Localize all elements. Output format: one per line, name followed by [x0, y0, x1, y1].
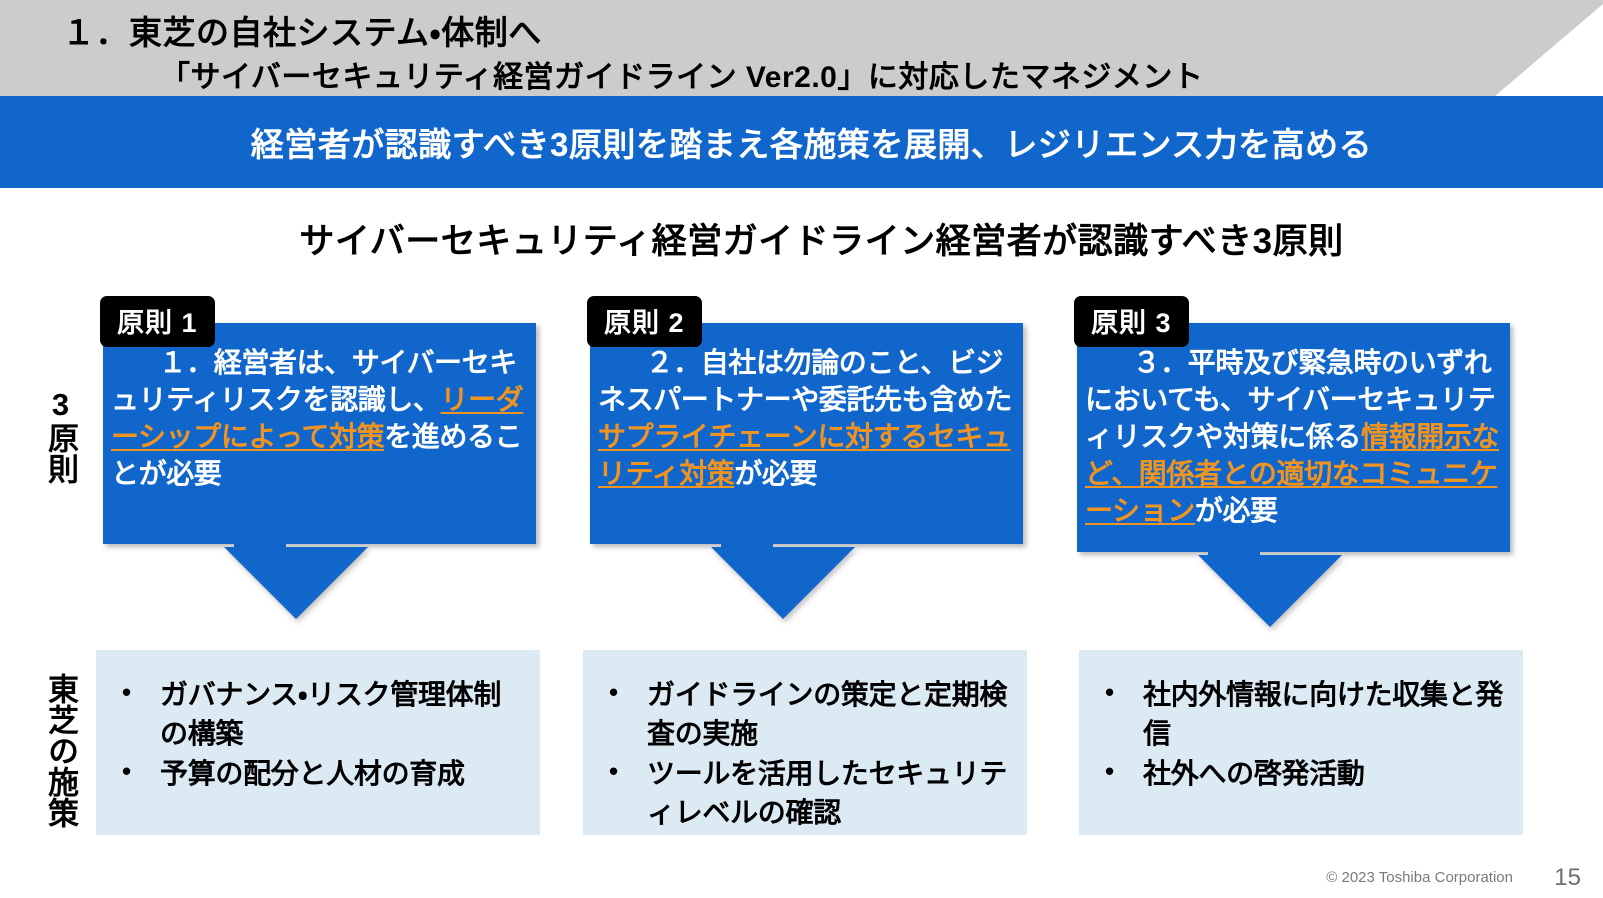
footer-copyright: © 2023 Toshiba Corporation	[1326, 869, 1513, 886]
principle-tag-3: 原則 3	[1074, 296, 1189, 347]
list-item: 予算の配分と人材の育成	[114, 755, 526, 794]
row-label-measures: 東芝の施策	[16, 650, 80, 850]
section-heading: サイバーセキュリティ経営ガイドライン経営者が認識すべき3原則	[0, 213, 1603, 264]
slide-title-line-1: １．東芝の自社システム・体制へ	[62, 6, 542, 54]
key-message-text: 経営者が認識すべき3原則を踏まえ各施策を展開、レジリエンス力を高める	[0, 96, 1603, 188]
principle-text-2: ２．自社は勿論のこと、ビジネスパートナーや委託先も含めたサプライチェーンに対する…	[598, 345, 1015, 493]
row-label-principles: 3原則	[16, 360, 80, 510]
measure-list-1: ガバナンス・リスク管理体制の構築予算の配分と人材の育成	[114, 676, 526, 794]
measure-box-2: ガイドラインの策定と定期検査の実施ツールを活用したセキュリティレベルの確認	[583, 650, 1027, 835]
principle-tag-1: 原則 1	[100, 296, 215, 347]
principle-text-1: １．経営者は、サイバーセキュリティリスクを認識し、リーダーシップによって対策を進…	[111, 345, 528, 493]
principle-text-3: ３．平時及び緊急時のいずれにおいても、サイバーセキュリティリスクや対策に係る情報…	[1085, 345, 1502, 530]
list-item: 社内外情報に向けた収集と発信	[1097, 676, 1509, 753]
list-item: 社外への啓発活動	[1097, 755, 1509, 794]
list-item: ツールを活用したセキュリティレベルの確認	[601, 755, 1013, 832]
measure-list-3: 社内外情報に向けた収集と発信社外への啓発活動	[1097, 676, 1509, 794]
principle-tag-2: 原則 2	[587, 296, 702, 347]
principle-box-1: １．経営者は、サイバーセキュリティリスクを認識し、リーダーシップによって対策を進…	[103, 323, 536, 544]
down-arrow-1	[224, 547, 368, 619]
measure-list-2: ガイドラインの策定と定期検査の実施ツールを活用したセキュリティレベルの確認	[601, 676, 1013, 833]
principle-box-3: ３．平時及び緊急時のいずれにおいても、サイバーセキュリティリスクや対策に係る情報…	[1077, 323, 1510, 552]
arrow-stem-2	[721, 525, 773, 549]
arrow-stem-1	[234, 525, 286, 549]
arrow-stem-3	[1208, 533, 1260, 557]
principle-box-2: ２．自社は勿論のこと、ビジネスパートナーや委託先も含めたサプライチェーンに対する…	[590, 323, 1023, 544]
slide-title-line-2: 「サイバーセキュリティ経営ガイドライン Ver2.0」に対応したマネジメント	[160, 52, 1203, 96]
measure-box-3: 社内外情報に向けた収集と発信社外への啓発活動	[1079, 650, 1523, 835]
down-arrow-2	[711, 547, 855, 619]
down-arrow-3	[1198, 555, 1342, 627]
list-item: ガバナンス・リスク管理体制の構築	[114, 676, 526, 753]
key-message-banner: 経営者が認識すべき3原則を踏まえ各施策を展開、レジリエンス力を高める	[0, 96, 1603, 188]
list-item: ガイドラインの策定と定期検査の実施	[601, 676, 1013, 753]
footer-page-number: 15	[1554, 864, 1581, 892]
measure-box-1: ガバナンス・リスク管理体制の構築予算の配分と人材の育成	[96, 650, 540, 835]
